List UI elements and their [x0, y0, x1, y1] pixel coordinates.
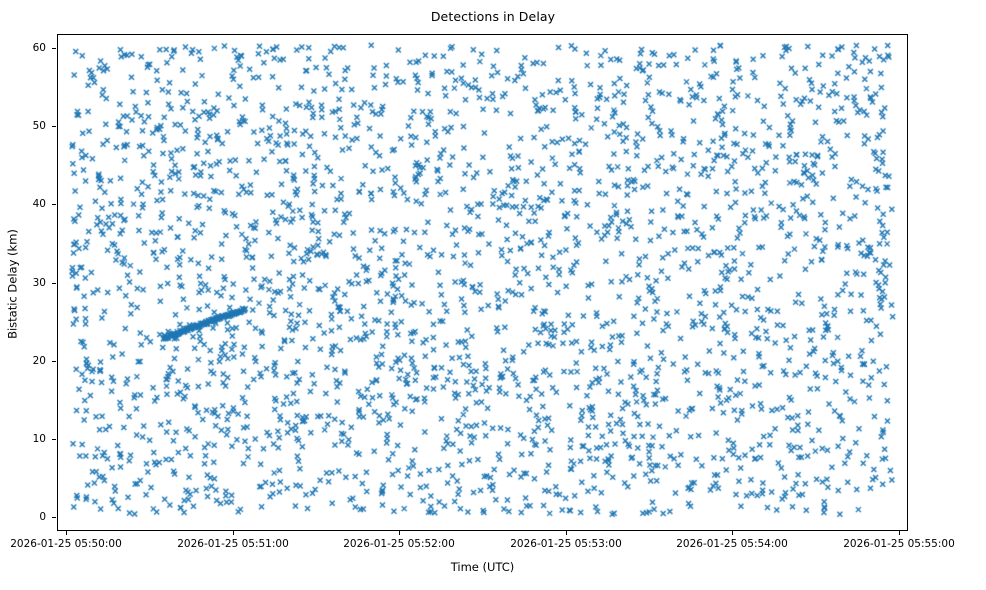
x-tick-mark	[732, 531, 733, 535]
y-axis-label: Bistatic Delay (km)	[6, 36, 20, 533]
y-tick-mark	[52, 517, 56, 518]
page-title: Detections in Delay	[0, 9, 986, 24]
x-tick-mark	[233, 531, 234, 535]
x-tick-label: 2026-01-25 05:51:00	[153, 539, 313, 550]
x-tick-mark	[566, 531, 567, 535]
y-tick-mark	[52, 204, 56, 205]
plot-area[interactable]	[57, 34, 908, 531]
y-tick-mark	[52, 48, 56, 49]
x-tick-mark	[899, 531, 900, 535]
x-tick-mark	[66, 531, 67, 535]
x-tick-label: 2026-01-25 05:54:00	[652, 539, 812, 550]
x-tick-label: 2026-01-25 05:50:00	[0, 539, 146, 550]
scatter-plot-canvas	[58, 35, 907, 530]
y-tick-mark	[52, 126, 56, 127]
y-tick-mark	[52, 439, 56, 440]
x-axis-label: Time (UTC)	[57, 560, 908, 574]
y-tick-mark	[52, 361, 56, 362]
y-tick-mark	[52, 283, 56, 284]
x-tick-label: 2026-01-25 05:55:00	[819, 539, 979, 550]
x-tick-label: 2026-01-25 05:53:00	[486, 539, 646, 550]
figure-canvas: Detections in Delay 0102030405060 2026-0…	[0, 0, 986, 590]
x-tick-label: 2026-01-25 05:52:00	[319, 539, 479, 550]
x-tick-mark	[399, 531, 400, 535]
